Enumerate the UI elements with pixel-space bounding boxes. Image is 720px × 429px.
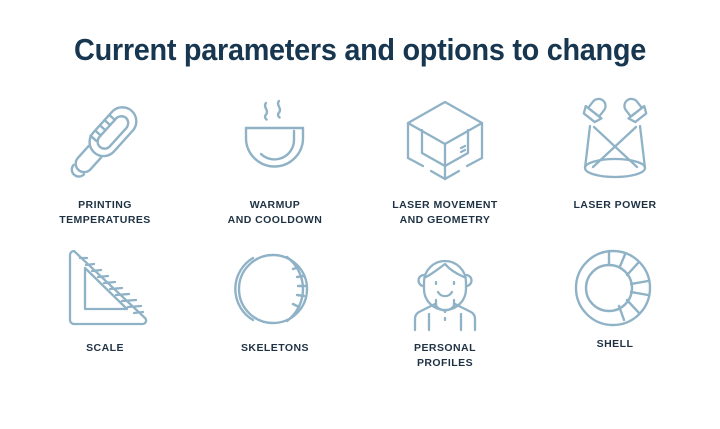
thermometer-icon xyxy=(57,92,153,192)
grid-item-warmup-and-cooldown[interactable]: WARMUP AND COOLDOWN xyxy=(190,92,360,240)
grid-item-label: PRINTING TEMPERATURES xyxy=(59,198,151,228)
grid-item-laser-movement-and-geometry[interactable]: LASER MOVEMENT AND GEOMETRY xyxy=(360,92,530,240)
sphere-ball-icon xyxy=(227,240,323,335)
spotlights-icon xyxy=(567,92,663,192)
steaming-cup-icon xyxy=(227,92,323,192)
filament-spool-donut-icon xyxy=(567,240,663,335)
isometric-cube-icon xyxy=(397,92,493,192)
grid-item-shell[interactable]: SHELL xyxy=(530,240,700,388)
page-root: Current parameters and options to change xyxy=(0,0,720,429)
grid-item-label: SKELETONS xyxy=(241,341,309,356)
set-square-ruler-icon xyxy=(57,240,153,335)
person-bust-icon xyxy=(397,240,493,335)
grid-item-skeletons[interactable]: SKELETONS xyxy=(190,240,360,388)
grid-item-laser-power[interactable]: LASER POWER xyxy=(530,92,700,240)
grid-item-label: SHELL xyxy=(597,337,634,352)
grid-item-label: WARMUP AND COOLDOWN xyxy=(228,198,323,228)
page-title: Current parameters and options to change xyxy=(25,33,695,67)
grid-item-label: PERSONAL PROFILES xyxy=(414,341,476,371)
grid-item-printing-temperatures[interactable]: PRINTING TEMPERATURES xyxy=(20,92,190,240)
parameter-grid: PRINTING TEMPERATURES WARMUP AND COOLDOW… xyxy=(20,92,700,388)
grid-item-label: LASER MOVEMENT AND GEOMETRY xyxy=(392,198,497,228)
grid-item-label: LASER POWER xyxy=(573,198,656,213)
grid-item-personal-profiles[interactable]: PERSONAL PROFILES xyxy=(360,240,530,388)
grid-item-label: SCALE xyxy=(86,341,124,356)
grid-item-scale[interactable]: SCALE xyxy=(20,240,190,388)
